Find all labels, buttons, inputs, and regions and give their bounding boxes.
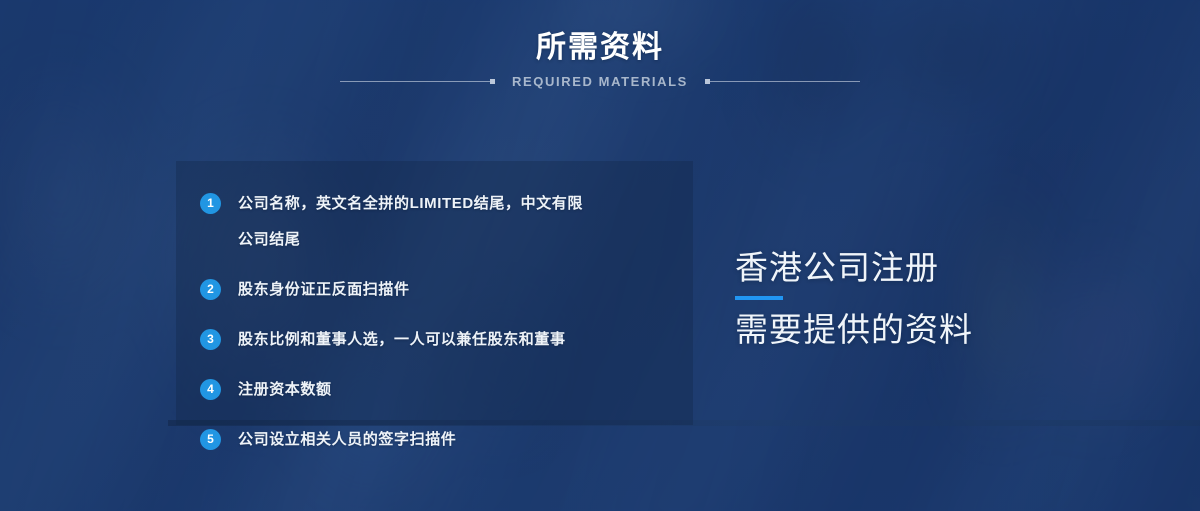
headline-line-2: 需要提供的资料	[735, 308, 1155, 352]
subtitle-row: REQUIRED MATERIALS	[0, 74, 1200, 89]
list-item-text: 注册资本数额	[238, 372, 332, 408]
list-item: 5 公司设立相关人员的签字扫描件	[200, 422, 700, 458]
page-title: 所需资料	[0, 28, 1200, 68]
list-item: 2 股东身份证正反面扫描件	[200, 272, 700, 308]
list-item-text: 公司名称，英文名全拼的LIMITED结尾，中文有限 公司结尾	[238, 186, 583, 258]
list-item-text: 股东比例和董事人选，一人可以兼任股东和董事	[238, 322, 566, 358]
list-item-line: 注册资本数额	[238, 372, 332, 408]
headline-line-1: 香港公司注册	[735, 246, 1155, 290]
list-item-line: 股东身份证正反面扫描件	[238, 272, 410, 308]
headline-block: 香港公司注册 需要提供的资料	[735, 246, 1155, 352]
list-item-text: 股东身份证正反面扫描件	[238, 272, 410, 308]
list-item: 3 股东比例和董事人选，一人可以兼任股东和董事	[200, 322, 700, 358]
list-item-line: 公司结尾	[238, 222, 583, 258]
list-item: 4 注册资本数额	[200, 372, 700, 408]
headline-accent-rule	[735, 296, 783, 300]
list-number-badge: 3	[200, 329, 221, 350]
divider-line-right	[710, 81, 860, 82]
promo-banner: 所需资料 REQUIRED MATERIALS 1 公司名称，英文名全拼的LIM…	[0, 0, 1200, 511]
list-item: 1 公司名称，英文名全拼的LIMITED结尾，中文有限 公司结尾	[200, 186, 700, 258]
materials-list: 1 公司名称，英文名全拼的LIMITED结尾，中文有限 公司结尾 2 股东身份证…	[200, 186, 700, 472]
list-item-line: 公司设立相关人员的签字扫描件	[238, 422, 456, 458]
list-item-text: 公司设立相关人员的签字扫描件	[238, 422, 456, 458]
list-item-line: 股东比例和董事人选，一人可以兼任股东和董事	[238, 322, 566, 358]
divider-line-left	[340, 81, 490, 82]
list-item-line: 公司名称，英文名全拼的LIMITED结尾，中文有限	[238, 186, 583, 222]
list-number-badge: 4	[200, 379, 221, 400]
list-number-badge: 5	[200, 429, 221, 450]
list-number-badge: 2	[200, 279, 221, 300]
banner-header: 所需资料 REQUIRED MATERIALS	[0, 28, 1200, 89]
list-number-badge: 1	[200, 193, 221, 214]
page-subtitle: REQUIRED MATERIALS	[490, 74, 710, 89]
